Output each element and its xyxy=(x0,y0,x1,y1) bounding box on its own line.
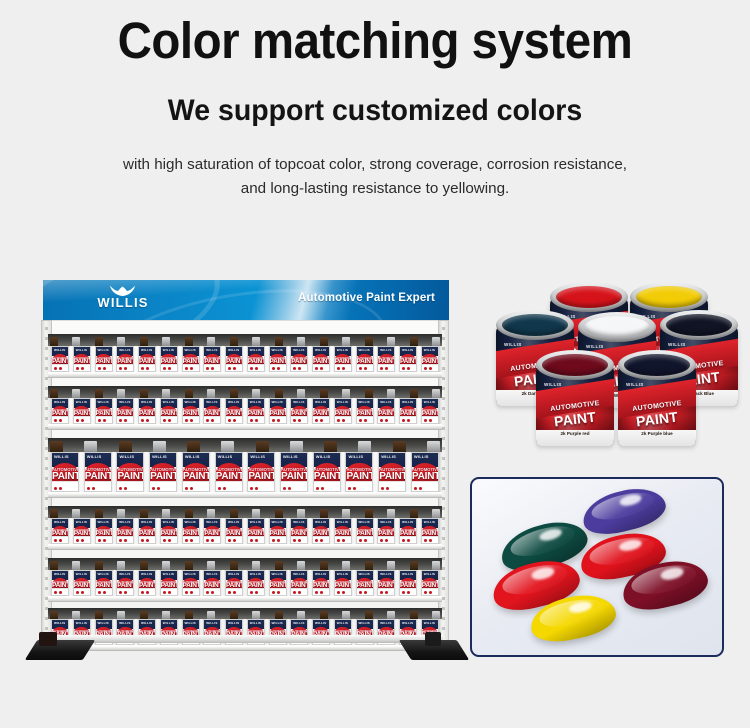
label-brand: WILLIS xyxy=(54,454,69,459)
label-footer xyxy=(52,481,78,491)
paint-can-product[interactable]: WILLISAUTOMOTIVEPAINT xyxy=(312,518,330,544)
label-brand: WILLIS xyxy=(119,520,130,524)
paint-can-product[interactable]: WILLISAUTOMOTIVEPAINT xyxy=(290,518,308,544)
label-footer xyxy=(204,364,220,371)
paint-can-product[interactable]: WILLISAUTOMOTIVEPAINT xyxy=(138,518,156,544)
label-brand: WILLIS xyxy=(185,454,200,459)
label-brand: WILLIS xyxy=(119,621,130,625)
can-rim xyxy=(618,350,696,380)
label-brand: WILLIS xyxy=(250,454,265,459)
label-brand: WILLIS xyxy=(228,400,239,404)
can-cap xyxy=(72,509,80,518)
label-brand: WILLIS xyxy=(315,400,326,404)
paint-can-product[interactable]: WILLISAUTOMOTIVEPAINT xyxy=(377,398,395,424)
can-cap xyxy=(230,389,238,398)
label-brand: WILLIS xyxy=(380,572,391,576)
label-footer xyxy=(96,536,112,543)
can-cap xyxy=(320,337,328,346)
label-brand: WILLIS xyxy=(250,400,261,404)
label-footer xyxy=(378,588,394,595)
can-cap xyxy=(410,389,418,398)
paint-can-product[interactable]: WILLISAUTOMOTIVEPAINT xyxy=(203,398,221,424)
label-brand: WILLIS xyxy=(272,400,283,404)
label-footer xyxy=(422,536,438,543)
paint-can-product[interactable]: WILLISAUTOMOTIVEPAINT xyxy=(182,518,200,544)
rack-brand-name: WILLIS xyxy=(85,296,161,310)
label-brand: WILLIS xyxy=(402,400,413,404)
label-brand: WILLIS xyxy=(250,520,261,524)
label-brand: WILLIS xyxy=(250,621,261,625)
can-cap xyxy=(432,389,440,398)
paint-can-product[interactable]: WILLISAUTOMOTIVEPAINT xyxy=(51,570,69,596)
paint-can-product[interactable]: WILLISAUTOMOTIVEPAINT xyxy=(399,398,417,424)
can-paint-surface xyxy=(542,354,608,376)
paint-display-rack: WILLIS Automotive Paint Expert WILLISAUT… xyxy=(33,280,457,680)
can-cap xyxy=(365,509,373,518)
can-cap xyxy=(50,509,58,518)
label-brand: WILLIS xyxy=(293,400,304,404)
paint-can-product[interactable]: WILLISAUTOMOTIVEPAINT xyxy=(160,570,178,596)
hero-text-block: Color matching system We support customi… xyxy=(0,0,750,200)
paint-can-product[interactable]: WILLISAUTOMOTIVEPAINT xyxy=(334,346,352,372)
paint-can-product[interactable]: WILLISAUTOMOTIVEPAINT xyxy=(51,452,79,492)
can-cap xyxy=(427,441,440,452)
label-brand: WILLIS xyxy=(141,348,152,352)
label-footer xyxy=(117,588,133,595)
paint-can-product[interactable]: WILLISAUTOMOTIVEPAINT xyxy=(356,518,374,544)
can-color-name: 2k Purple blue xyxy=(618,431,696,436)
label-brand: WILLIS xyxy=(185,621,196,625)
can-cap xyxy=(342,509,350,518)
can-rim xyxy=(630,282,708,312)
can-cap xyxy=(410,611,418,619)
label-brand: WILLIS xyxy=(348,454,363,459)
can-cap xyxy=(153,441,166,452)
shelf-can-row: WILLISAUTOMOTIVEPAINTWILLISAUTOMOTIVEPAI… xyxy=(51,398,439,424)
label-footer xyxy=(422,588,438,595)
can-rim xyxy=(660,310,738,340)
shelf-can-row: WILLISAUTOMOTIVEPAINTWILLISAUTOMOTIVEPAI… xyxy=(51,452,439,492)
can-cap xyxy=(387,611,395,619)
label-footer xyxy=(400,588,416,595)
paint-can-product[interactable]: WILLISAUTOMOTIVEPAINT xyxy=(312,398,330,424)
paint-can-product[interactable]: WILLISAUTOMOTIVEPAINT xyxy=(225,570,243,596)
label-brand: WILLIS xyxy=(402,621,413,625)
paint-can-product[interactable]: WILLISAUTOMOTIVEPAINT xyxy=(247,346,265,372)
can-brand: WILLIS xyxy=(626,382,644,387)
can-cap xyxy=(230,611,238,619)
label-brand: WILLIS xyxy=(272,621,283,625)
paint-can-product[interactable]: WILLISAUTOMOTIVEPAINT xyxy=(356,570,374,596)
label-brand: WILLIS xyxy=(163,348,174,352)
label-brand: WILLIS xyxy=(119,454,134,459)
paint-can-product[interactable]: WILLISAUTOMOTIVEPAINT xyxy=(269,346,287,372)
paint-can-product[interactable]: WILLISAUTOMOTIVEPAINT xyxy=(84,452,112,492)
paint-can-product[interactable]: WILLISAUTOMOTIVEPAINT xyxy=(356,398,374,424)
paint-can-product[interactable]: WILLISAUTOMOTIVEPAINT xyxy=(138,570,156,596)
can-cap xyxy=(230,509,238,518)
paint-can-product[interactable]: WILLISAUTOMOTIVEPAINT xyxy=(51,518,69,544)
label-footer xyxy=(52,588,68,595)
label-brand: WILLIS xyxy=(98,348,109,352)
can-cap xyxy=(207,389,215,398)
label-footer xyxy=(161,364,177,371)
paint-can-open[interactable]: WILLISAUTOMOTIVEPAINT2k Purple blue xyxy=(618,350,696,446)
can-cap xyxy=(252,389,260,398)
paint-can-product[interactable]: WILLISAUTOMOTIVEPAINT xyxy=(334,570,352,596)
label-footer xyxy=(346,481,372,491)
label-footer xyxy=(226,588,242,595)
can-cap xyxy=(252,337,260,346)
label-footer xyxy=(291,416,307,423)
paint-can-product[interactable]: WILLISAUTOMOTIVEPAINT xyxy=(313,452,341,492)
can-cap xyxy=(320,509,328,518)
paint-can-product[interactable]: WILLISAUTOMOTIVEPAINT xyxy=(225,398,243,424)
rack-foot-right-inner xyxy=(425,632,441,646)
paint-can-product[interactable]: WILLISAUTOMOTIVEPAINT xyxy=(280,452,308,492)
label-brand: WILLIS xyxy=(380,520,391,524)
paint-can-product[interactable]: WILLISAUTOMOTIVEPAINT xyxy=(399,518,417,544)
can-cap xyxy=(221,441,234,452)
can-cap xyxy=(410,509,418,518)
label-footer xyxy=(204,536,220,543)
label-footer xyxy=(270,416,286,423)
can-cap xyxy=(252,509,260,518)
can-cap xyxy=(230,561,238,570)
can-cap xyxy=(432,509,440,518)
can-cap xyxy=(72,389,80,398)
can-cap xyxy=(275,389,283,398)
can-cap xyxy=(50,337,58,346)
label-brand: WILLIS xyxy=(163,400,174,404)
paint-can-product[interactable]: WILLISAUTOMOTIVEPAINT xyxy=(95,398,113,424)
rack-brand-block: WILLIS xyxy=(85,284,161,310)
label-brand: WILLIS xyxy=(359,348,370,352)
paint-can-product[interactable]: WILLISAUTOMOTIVEPAINT xyxy=(421,398,439,424)
label-footer xyxy=(139,416,155,423)
can-cap xyxy=(410,561,418,570)
paint-can-product[interactable]: WILLISAUTOMOTIVEPAINT xyxy=(182,398,200,424)
paint-can-product[interactable]: WILLISAUTOMOTIVEPAINT xyxy=(182,452,210,492)
label-brand: WILLIS xyxy=(141,621,152,625)
label-brand: WILLIS xyxy=(337,400,348,404)
label-brand: WILLIS xyxy=(54,400,65,404)
can-cap xyxy=(275,337,283,346)
label-brand: WILLIS xyxy=(141,520,152,524)
label-footer xyxy=(161,588,177,595)
shelf-can-row: WILLISAUTOMOTIVEPAINTWILLISAUTOMOTIVEPAI… xyxy=(51,570,439,596)
can-cap xyxy=(432,337,440,346)
paint-can-product[interactable]: WILLISAUTOMOTIVEPAINT xyxy=(116,346,134,372)
paint-can-product[interactable]: WILLISAUTOMOTIVEPAINT xyxy=(73,570,91,596)
paint-can-product[interactable]: WILLISAUTOMOTIVEPAINT xyxy=(215,452,243,492)
paint-can-product[interactable]: WILLISAUTOMOTIVEPAINT xyxy=(345,452,373,492)
label-brand: WILLIS xyxy=(54,520,65,524)
can-cap xyxy=(207,611,215,619)
can-cap xyxy=(320,389,328,398)
paint-can-product[interactable]: WILLISAUTOMOTIVEPAINT xyxy=(421,346,439,372)
label-footer xyxy=(412,481,438,491)
paint-can-product[interactable]: WILLISAUTOMOTIVEPAINT xyxy=(116,398,134,424)
paint-can-product[interactable]: WILLISAUTOMOTIVEPAINT xyxy=(411,452,439,492)
label-brand: WILLIS xyxy=(337,520,348,524)
can-cap xyxy=(342,389,350,398)
label-footer xyxy=(248,416,264,423)
label-brand: WILLIS xyxy=(141,400,152,404)
can-cap xyxy=(365,611,373,619)
label-footer xyxy=(117,364,133,371)
label-footer xyxy=(216,481,242,491)
paint-can-product[interactable]: WILLISAUTOMOTIVEPAINT xyxy=(182,570,200,596)
label-footer xyxy=(357,588,373,595)
label-brand: WILLIS xyxy=(98,520,109,524)
can-brand: WILLIS xyxy=(586,344,604,349)
product-image-stage: WILLIS Automotive Paint Expert WILLISAUT… xyxy=(0,258,750,728)
paint-can-product[interactable]: WILLISAUTOMOTIVEPAINT xyxy=(116,518,134,544)
paint-can-product[interactable]: WILLISAUTOMOTIVEPAINT xyxy=(247,398,265,424)
can-brand: WILLIS xyxy=(504,342,522,347)
label-brand: WILLIS xyxy=(359,400,370,404)
can-cap xyxy=(117,389,125,398)
paint-can-product[interactable]: WILLISAUTOMOTIVEPAINT xyxy=(269,518,287,544)
can-cap xyxy=(95,611,103,619)
paint-can-product[interactable]: WILLISAUTOMOTIVEPAINT xyxy=(116,452,144,492)
can-cap xyxy=(140,337,148,346)
shelf-rail xyxy=(48,372,442,378)
paint-can-product[interactable]: WILLISAUTOMOTIVEPAINT xyxy=(203,518,221,544)
paint-can-product[interactable]: WILLISAUTOMOTIVEPAINT xyxy=(269,398,287,424)
paint-can-open[interactable]: WILLISAUTOMOTIVEPAINT2k Purple red xyxy=(536,350,614,446)
shelf-rail xyxy=(48,544,442,550)
paint-can-product[interactable]: WILLISAUTOMOTIVEPAINT xyxy=(160,518,178,544)
can-cap xyxy=(324,441,337,452)
label-footer xyxy=(226,364,242,371)
can-cap xyxy=(72,561,80,570)
paint-can-product[interactable]: WILLISAUTOMOTIVEPAINT xyxy=(247,518,265,544)
label-brand: WILLIS xyxy=(54,572,65,576)
paint-can-product[interactable]: WILLISAUTOMOTIVEPAINT xyxy=(203,570,221,596)
label-footer xyxy=(74,588,90,595)
color-swatch-purple[interactable] xyxy=(578,481,669,540)
label-brand: WILLIS xyxy=(152,454,167,459)
can-cap xyxy=(117,337,125,346)
label-brand: WILLIS xyxy=(293,520,304,524)
can-cap xyxy=(117,611,125,619)
label-footer xyxy=(248,364,264,371)
rack-header-banner: WILLIS Automotive Paint Expert xyxy=(43,280,449,320)
label-footer xyxy=(139,536,155,543)
label-brand: WILLIS xyxy=(76,348,87,352)
can-paint-surface xyxy=(584,316,650,338)
paint-can-product[interactable]: WILLISAUTOMOTIVEPAINT xyxy=(73,398,91,424)
label-footer xyxy=(357,364,373,371)
paint-can-product[interactable]: WILLISAUTOMOTIVEPAINT xyxy=(399,570,417,596)
can-cap xyxy=(252,561,260,570)
paint-can-product[interactable]: WILLISAUTOMOTIVEPAINT xyxy=(312,570,330,596)
label-brand: WILLIS xyxy=(76,400,87,404)
label-brand: WILLIS xyxy=(76,572,87,576)
can-cap xyxy=(207,337,215,346)
can-cap xyxy=(297,561,305,570)
paint-can-product[interactable]: WILLISAUTOMOTIVEPAINT xyxy=(290,346,308,372)
paint-can-product[interactable]: WILLISAUTOMOTIVEPAINT xyxy=(290,398,308,424)
paint-can-product[interactable]: WILLISAUTOMOTIVEPAINT xyxy=(269,570,287,596)
can-cap xyxy=(162,389,170,398)
paint-can-product[interactable]: WILLISAUTOMOTIVEPAINT xyxy=(73,518,91,544)
label-footer xyxy=(161,536,177,543)
can-paint-surface xyxy=(666,314,732,336)
label-footer xyxy=(400,536,416,543)
can-cap xyxy=(365,337,373,346)
label-brand: WILLIS xyxy=(315,520,326,524)
can-cap xyxy=(50,441,63,452)
label-footer xyxy=(139,588,155,595)
paint-can-product[interactable]: WILLISAUTOMOTIVEPAINT xyxy=(51,346,69,372)
can-cap xyxy=(342,337,350,346)
paint-can-product[interactable]: WILLISAUTOMOTIVEPAINT xyxy=(378,452,406,492)
label-footer xyxy=(96,416,112,423)
paint-can-product[interactable]: WILLISAUTOMOTIVEPAINT xyxy=(95,346,113,372)
label-brand: WILLIS xyxy=(163,572,174,576)
paint-can-product[interactable]: WILLISAUTOMOTIVEPAINT xyxy=(334,518,352,544)
paint-can-product[interactable]: WILLISAUTOMOTIVEPAINT xyxy=(377,346,395,372)
label-footer xyxy=(117,481,143,491)
label-footer xyxy=(400,364,416,371)
label-brand: WILLIS xyxy=(206,621,217,625)
label-footer xyxy=(204,416,220,423)
rack-shelf: WILLISAUTOMOTIVEPAINTWILLISAUTOMOTIVEPAI… xyxy=(48,334,442,378)
paint-can-product[interactable]: WILLISAUTOMOTIVEPAINT xyxy=(95,518,113,544)
paint-can-product[interactable]: WILLISAUTOMOTIVEPAINT xyxy=(377,570,395,596)
paint-can-cluster: WILLISAUTOMOTIVEPAINT2k RedWILLISAUTOMOT… xyxy=(478,280,750,472)
label-brand: WILLIS xyxy=(206,572,217,576)
rack-foot-left-inner xyxy=(39,632,57,646)
label-footer xyxy=(379,481,405,491)
shelf-can-row: WILLISAUTOMOTIVEPAINTWILLISAUTOMOTIVEPAI… xyxy=(51,518,439,544)
rack-bottom-rail xyxy=(47,635,443,643)
paint-can-product[interactable]: WILLISAUTOMOTIVEPAINT xyxy=(138,346,156,372)
label-brand: WILLIS xyxy=(87,454,102,459)
paint-can-product[interactable]: WILLISAUTOMOTIVEPAINT xyxy=(138,398,156,424)
can-cap xyxy=(95,509,103,518)
label-footer xyxy=(96,588,112,595)
can-cap xyxy=(275,611,283,619)
paint-can-product[interactable]: WILLISAUTOMOTIVEPAINT xyxy=(421,570,439,596)
rack-shelf: WILLISAUTOMOTIVEPAINTWILLISAUTOMOTIVEPAI… xyxy=(48,438,442,498)
label-brand: WILLIS xyxy=(337,572,348,576)
can-paint-surface xyxy=(624,354,690,376)
color-swatch-panel xyxy=(470,477,724,657)
label-footer xyxy=(314,481,340,491)
can-cap xyxy=(185,561,193,570)
label-brand: WILLIS xyxy=(119,400,130,404)
paint-can-product[interactable]: WILLISAUTOMOTIVEPAINT xyxy=(149,452,177,492)
can-cap xyxy=(365,561,373,570)
label-brand: WILLIS xyxy=(54,348,65,352)
can-cap xyxy=(140,561,148,570)
label-brand: WILLIS xyxy=(402,348,413,352)
paint-can-product[interactable]: WILLISAUTOMOTIVEPAINT xyxy=(399,346,417,372)
shelf-rail xyxy=(48,492,442,498)
rack-frame: WILLISAUTOMOTIVEPAINTWILLISAUTOMOTIVEPAI… xyxy=(33,320,457,645)
rack-shelf: WILLISAUTOMOTIVEPAINTWILLISAUTOMOTIVEPAI… xyxy=(48,558,442,602)
label-brand: WILLIS xyxy=(228,572,239,576)
label-brand: WILLIS xyxy=(98,572,109,576)
can-cap xyxy=(162,611,170,619)
label-brand: WILLIS xyxy=(402,520,413,524)
paint-can-product[interactable]: WILLISAUTOMOTIVEPAINT xyxy=(182,346,200,372)
label-brand: WILLIS xyxy=(359,621,370,625)
paint-can-product[interactable]: WILLISAUTOMOTIVEPAINT xyxy=(160,346,178,372)
paint-can-product[interactable]: WILLISAUTOMOTIVEPAINT xyxy=(95,570,113,596)
paint-can-product[interactable]: WILLISAUTOMOTIVEPAINT xyxy=(203,346,221,372)
can-paint-surface xyxy=(556,286,622,308)
label-footer xyxy=(400,416,416,423)
label-footer xyxy=(422,416,438,423)
paint-can-product[interactable]: WILLISAUTOMOTIVEPAINT xyxy=(334,398,352,424)
paint-can-product[interactable]: WILLISAUTOMOTIVEPAINT xyxy=(73,346,91,372)
can-cap xyxy=(297,509,305,518)
label-brand: WILLIS xyxy=(272,520,283,524)
can-cap xyxy=(342,561,350,570)
label-brand: WILLIS xyxy=(206,400,217,404)
shelf-gap xyxy=(48,608,442,619)
can-cap xyxy=(387,389,395,398)
label-brand: WILLIS xyxy=(206,520,217,524)
label-brand: WILLIS xyxy=(163,520,174,524)
can-cap xyxy=(207,561,215,570)
paint-can-product[interactable]: WILLISAUTOMOTIVEPAINT xyxy=(225,518,243,544)
paint-can-product[interactable]: WILLISAUTOMOTIVEPAINT xyxy=(290,570,308,596)
shelf-rail xyxy=(48,645,442,651)
paint-can-product[interactable]: WILLISAUTOMOTIVEPAINT xyxy=(247,570,265,596)
paint-can-product[interactable]: WILLISAUTOMOTIVEPAINT xyxy=(377,518,395,544)
can-cap xyxy=(320,561,328,570)
label-brand: WILLIS xyxy=(206,348,217,352)
label-footer xyxy=(226,536,242,543)
label-brand: WILLIS xyxy=(283,454,298,459)
label-footer xyxy=(52,364,68,371)
shelf-gap xyxy=(48,386,442,398)
paint-can-product[interactable]: WILLISAUTOMOTIVEPAINT xyxy=(247,452,275,492)
paint-can-product[interactable]: WILLISAUTOMOTIVEPAINT xyxy=(116,570,134,596)
can-cap xyxy=(95,561,103,570)
label-brand: WILLIS xyxy=(315,348,326,352)
label-footer xyxy=(117,416,133,423)
can-cap xyxy=(50,389,58,398)
label-brand: WILLIS xyxy=(250,572,261,576)
label-brand: WILLIS xyxy=(76,520,87,524)
can-cap xyxy=(50,611,58,619)
paint-can-product[interactable]: WILLISAUTOMOTIVEPAINT xyxy=(160,398,178,424)
description-line-1: with high saturation of topcoat color, s… xyxy=(55,153,695,177)
label-footer xyxy=(291,364,307,371)
paint-can-product[interactable]: WILLISAUTOMOTIVEPAINT xyxy=(312,346,330,372)
can-color-name: 2k Purple red xyxy=(536,431,614,436)
paint-can-product[interactable]: WILLISAUTOMOTIVEPAINT xyxy=(51,398,69,424)
paint-can-product[interactable]: WILLISAUTOMOTIVEPAINT xyxy=(225,346,243,372)
paint-can-product[interactable]: WILLISAUTOMOTIVEPAINT xyxy=(421,518,439,544)
label-brand: WILLIS xyxy=(272,572,283,576)
can-cap xyxy=(185,389,193,398)
label-footer xyxy=(74,416,90,423)
can-cap xyxy=(140,611,148,619)
can-cap xyxy=(119,441,132,452)
label-footer xyxy=(335,364,351,371)
paint-can-product[interactable]: WILLISAUTOMOTIVEPAINT xyxy=(356,346,374,372)
can-paint-surface xyxy=(636,286,702,308)
can-rim xyxy=(496,310,574,340)
